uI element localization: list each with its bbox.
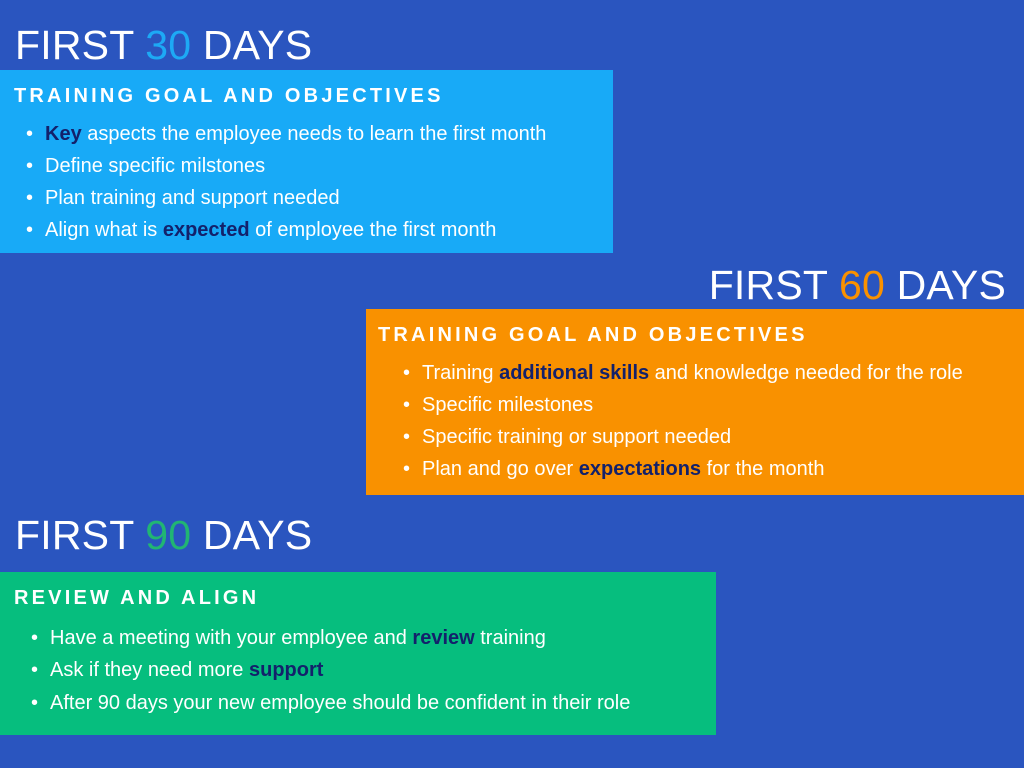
list-item: Training additional skills and knowledge…	[400, 357, 1024, 389]
section-title-60: FIRST 60 DAYS	[709, 265, 1006, 306]
title-number-60: 60	[839, 262, 885, 308]
bullet-pre: Specific milestones	[422, 394, 593, 416]
title-number-30: 30	[145, 22, 191, 68]
bullet-pre: Plan and go over	[422, 458, 579, 480]
title-number-90: 90	[145, 512, 191, 558]
bullet-list-30: Key aspects the employee needs to learn …	[14, 118, 613, 246]
title-suffix-60: DAYS	[885, 262, 1006, 308]
title-prefix-30: FIRST	[15, 22, 145, 68]
list-item: Ask if they need more support	[28, 654, 716, 686]
panel-first-90-days: REVIEW AND ALIGN Have a meeting with you…	[0, 572, 716, 735]
panel-heading-60: TRAINING GOAL AND OBJECTIVES	[378, 325, 1024, 345]
title-suffix-90: DAYS	[191, 512, 312, 558]
bullet-pre: Plan training and support needed	[45, 187, 340, 209]
bullet-pre: Specific training or support needed	[422, 426, 731, 448]
list-item: After 90 days your new employee should b…	[28, 687, 716, 719]
panel-heading-90: REVIEW AND ALIGN	[14, 588, 716, 608]
list-item: Key aspects the employee needs to learn …	[23, 118, 613, 150]
bullet-strong: expectations	[579, 458, 701, 480]
panel-heading-30: TRAINING GOAL AND OBJECTIVES	[14, 86, 613, 106]
list-item: Specific milestones	[400, 389, 1024, 421]
bullet-strong: Key	[45, 123, 82, 145]
bullet-strong: expected	[163, 219, 250, 241]
title-suffix-30: DAYS	[191, 22, 312, 68]
bullet-pre: Training	[422, 362, 499, 384]
bullet-list-90: Have a meeting with your employee and re…	[14, 622, 716, 719]
bullet-pre: Have a meeting with your employee and	[50, 627, 412, 649]
list-item: Align what is expected of employee the f…	[23, 214, 613, 246]
section-title-90: FIRST 90 DAYS	[15, 515, 312, 556]
bullet-post: training	[475, 627, 546, 649]
panel-first-30-days: TRAINING GOAL AND OBJECTIVES Key aspects…	[0, 70, 613, 253]
list-item: Plan and go over expectations for the mo…	[400, 453, 1024, 485]
title-prefix-90: FIRST	[15, 512, 145, 558]
list-item: Define specific milstones	[23, 150, 613, 182]
bullet-strong: support	[249, 659, 323, 681]
bullet-post: and knowledge needed for the role	[649, 362, 963, 384]
list-item: Have a meeting with your employee and re…	[28, 622, 716, 654]
title-prefix-60: FIRST	[709, 262, 839, 308]
section-title-30: FIRST 30 DAYS	[15, 25, 312, 66]
bullet-pre: Align what is	[45, 219, 163, 241]
list-item: Specific training or support needed	[400, 421, 1024, 453]
slide-canvas: FIRST 30 DAYS TRAINING GOAL AND OBJECTIV…	[0, 0, 1024, 768]
bullet-post: of employee the first month	[250, 219, 497, 241]
bullet-pre: Ask if they need more	[50, 659, 249, 681]
bullet-post: for the month	[701, 458, 824, 480]
bullet-strong: review	[412, 627, 474, 649]
bullet-list-60: Training additional skills and knowledge…	[378, 357, 1024, 485]
bullet-post: aspects the employee needs to learn the …	[82, 123, 547, 145]
bullet-pre: After 90 days your new employee should b…	[50, 692, 630, 714]
bullet-strong: additional skills	[499, 362, 649, 384]
panel-first-60-days: TRAINING GOAL AND OBJECTIVES Training ad…	[366, 309, 1024, 495]
list-item: Plan training and support needed	[23, 182, 613, 214]
bullet-pre: Define specific milstones	[45, 155, 265, 177]
